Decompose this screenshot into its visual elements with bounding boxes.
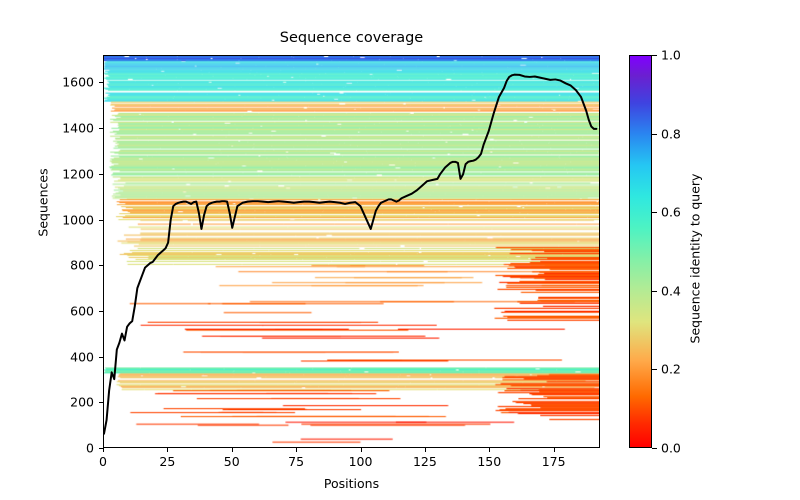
x-tick-label: 0 <box>99 454 107 469</box>
y-tick-label: 1000 <box>44 212 94 227</box>
y-tick-label: 800 <box>44 258 94 273</box>
y-tick-label: 1200 <box>44 166 94 181</box>
x-tick-label: 125 <box>413 454 437 469</box>
x-tick-label: 25 <box>159 454 175 469</box>
colorbar-tick <box>652 134 657 135</box>
y-tick <box>99 82 103 83</box>
colorbar-tick <box>652 291 657 292</box>
colorbar-tick <box>652 55 657 56</box>
y-tick <box>99 357 103 358</box>
x-tick-label: 75 <box>288 454 304 469</box>
x-tick <box>167 448 168 452</box>
x-tick <box>361 448 362 452</box>
y-tick-label: 1600 <box>44 75 94 90</box>
x-tick-label: 150 <box>477 454 501 469</box>
x-tick-label: 100 <box>349 454 373 469</box>
colorbar-tick-label: 0.2 <box>661 362 681 377</box>
y-tick-label: 600 <box>44 303 94 318</box>
figure-canvas: Sequence coverage 0255075100125150175 02… <box>0 0 800 500</box>
y-tick <box>99 220 103 221</box>
y-tick <box>99 128 103 129</box>
y-tick-label: 0 <box>44 441 94 456</box>
y-tick-label: 1400 <box>44 121 94 136</box>
plot-area[interactable] <box>103 55 600 448</box>
x-tick <box>425 448 426 452</box>
y-tick <box>99 265 103 266</box>
y-tick-label: 200 <box>44 395 94 410</box>
x-tick-label: 50 <box>224 454 240 469</box>
y-tick <box>99 174 103 175</box>
coverage-line <box>104 75 596 434</box>
colorbar-tick-label: 0.4 <box>661 283 681 298</box>
x-axis-label: Positions <box>103 476 600 491</box>
y-tick <box>99 311 103 312</box>
colorbar-label: Sequence identity to query <box>688 59 703 459</box>
x-tick <box>232 448 233 452</box>
colorbar-tick-label: 1.0 <box>661 48 681 63</box>
x-tick <box>103 448 104 452</box>
colorbar-tick-label: 0.8 <box>661 126 681 141</box>
coverage-curve <box>104 56 599 447</box>
y-tick <box>99 448 103 449</box>
colorbar-tick-label: 0.0 <box>661 441 681 456</box>
x-tick <box>296 448 297 452</box>
x-tick <box>554 448 555 452</box>
colorbar-tick <box>652 448 657 449</box>
y-axis-label: Sequences <box>36 3 51 403</box>
colorbar-tick <box>652 369 657 370</box>
colorbar-tick <box>652 212 657 213</box>
x-tick-label: 175 <box>542 454 566 469</box>
x-tick <box>489 448 490 452</box>
y-tick <box>99 402 103 403</box>
colorbar-tick-label: 0.6 <box>661 205 681 220</box>
colorbar[interactable] <box>629 55 652 448</box>
y-tick-label: 400 <box>44 349 94 364</box>
chart-title: Sequence coverage <box>103 30 600 46</box>
